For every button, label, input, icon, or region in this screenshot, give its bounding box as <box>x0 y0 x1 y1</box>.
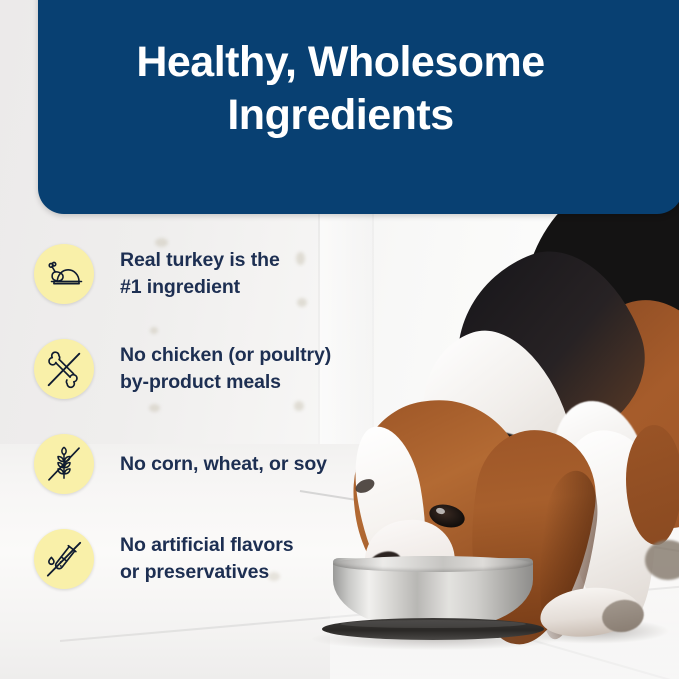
feature-label: Real turkey is the #1 ingredient <box>120 247 280 301</box>
feature-item-real-turkey: Real turkey is the #1 ingredient <box>34 243 434 305</box>
feature-item-no-artificial: No artificial flavors or preservatives <box>34 528 434 590</box>
product-feature-poster: Healthy, Wholesome Ingredients <box>0 0 679 679</box>
roast-turkey-platter-icon <box>34 244 94 304</box>
test-tube-no-icon <box>34 529 94 589</box>
bone-no-icon <box>34 339 94 399</box>
header-banner: Healthy, Wholesome Ingredients <box>38 0 679 214</box>
feature-label: No artificial flavors or preservatives <box>120 532 293 586</box>
feature-item-no-grains: No corn, wheat, or soy <box>34 433 434 495</box>
feature-label: No chicken (or poultry) by-product meals <box>120 342 331 396</box>
feature-label: No corn, wheat, or soy <box>120 451 327 478</box>
wheat-stalk-no-icon <box>34 434 94 494</box>
feature-item-no-byproduct: No chicken (or poultry) by-product meals <box>34 338 434 400</box>
feature-list: Real turkey is the #1 ingredient No chic… <box>34 243 434 623</box>
page-title: Healthy, Wholesome Ingredients <box>38 36 643 142</box>
